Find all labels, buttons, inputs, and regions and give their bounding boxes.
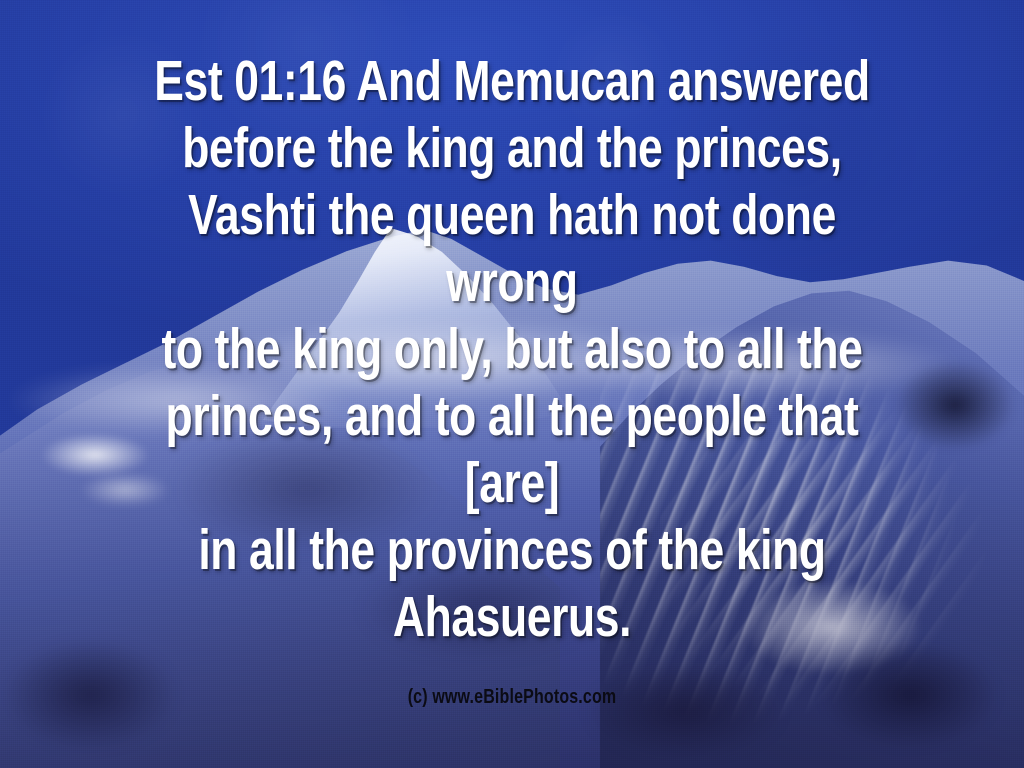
verse-image: Est 01:16 And Memucan answered before th… xyxy=(0,0,1024,768)
verse-text: Est 01:16 And Memucan answered before th… xyxy=(141,48,884,651)
watermark-text: (c) www.eBiblePhotos.com xyxy=(102,686,921,708)
